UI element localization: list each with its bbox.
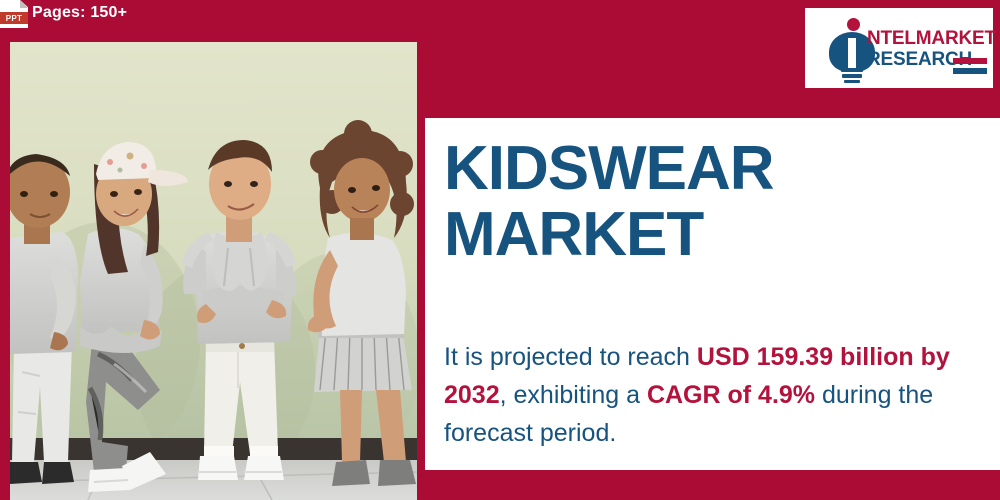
slide-root: PPT Pages: 150+ NTELMARKET RESEARCH [0,0,1000,500]
lightbulb-filament [848,38,856,70]
kidswear-photo-illustration [10,42,417,500]
content-panel: KIDSWEAR MARKET It is projected to reach… [425,118,1000,470]
brand-logo[interactable]: NTELMARKET RESEARCH [805,8,993,88]
summary-highlight-cagr: CAGR of 4.9% [647,381,815,409]
logo-accent-bar-red [953,58,987,64]
pages-count-label: Pages: 150+ [32,4,127,22]
ppt-file-icon: PPT [0,0,28,28]
page-title-line2: MARKET [444,202,984,268]
lightbulb-base-line-3 [844,80,860,83]
market-summary-text: It is projected to reach USD 159.39 bill… [444,338,974,452]
lightbulb-base-line-1 [841,68,863,72]
lightbulb-base-line-2 [842,74,862,78]
lightbulb-spark-dot [847,18,860,31]
summary-part-1: It is projected to reach [444,343,697,371]
logo-wordmark-line1: NTELMARKET [867,28,996,49]
kidswear-photo [10,42,417,500]
page-title: KIDSWEAR MARKET [444,136,984,268]
page-title-line1: KIDSWEAR [444,136,984,202]
logo-accent-bars [953,58,987,74]
logo-accent-bar-blue [953,68,987,74]
ppt-badge-label: PPT [0,12,28,24]
logo-inner: NTELMARKET RESEARCH [805,8,993,88]
summary-part-2: , exhibiting a [500,381,647,409]
child-1 [10,154,78,484]
